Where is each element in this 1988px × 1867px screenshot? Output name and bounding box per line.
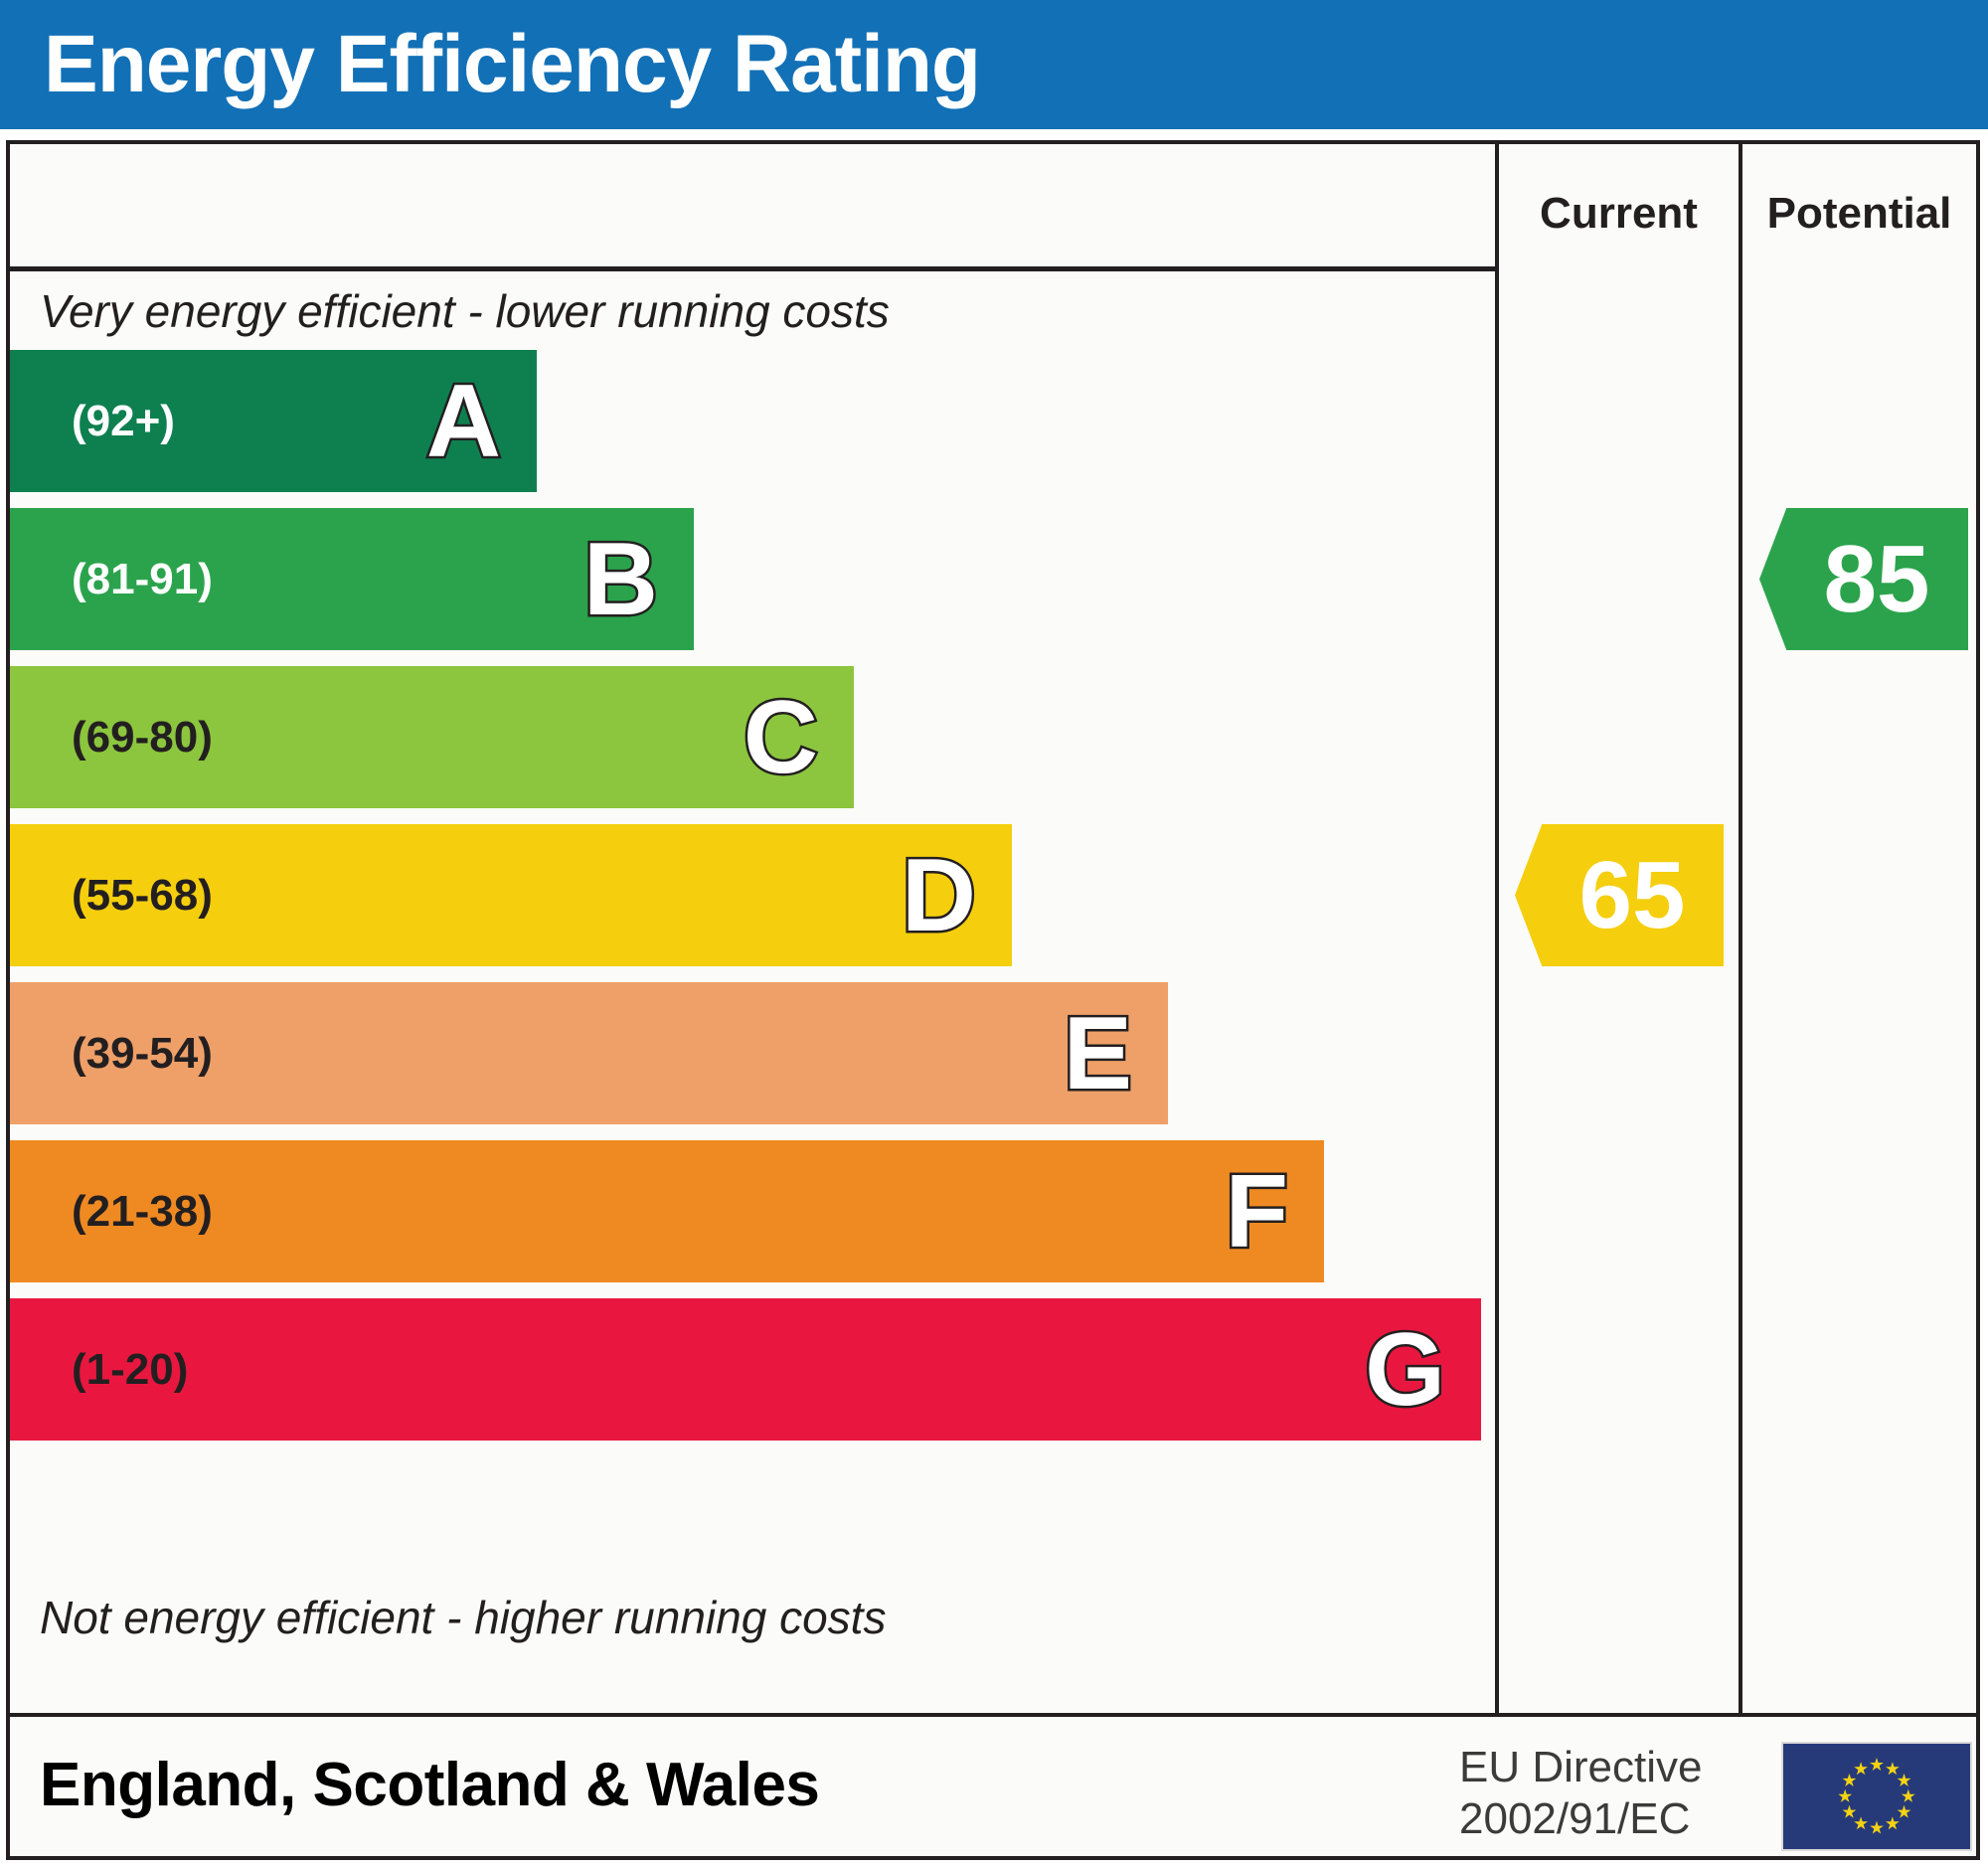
band-letter-e: E <box>1064 1002 1132 1105</box>
band-f: (21-38)F <box>10 1140 1324 1282</box>
caption-very-efficient: Very energy efficient - lower running co… <box>40 284 890 338</box>
band-range-a: (92+) <box>72 400 175 443</box>
band-e: (39-54)E <box>10 982 1168 1124</box>
footer-region-label: England, Scotland & Wales <box>40 1750 819 1820</box>
band-letter-c: C <box>744 686 818 789</box>
column-header-current: Current <box>1499 189 1739 239</box>
band-range-f: (21-38) <box>72 1190 213 1234</box>
rating-value-potential: 85 <box>1798 532 1930 627</box>
band-b: (81-91)B <box>10 508 694 650</box>
band-range-d: (55-68) <box>72 874 213 918</box>
eu-flag-stars-icon <box>1783 1744 1970 1849</box>
energy-efficiency-rating-chart: Energy Efficiency Rating Current Potenti… <box>0 0 1988 1867</box>
directive-line-2: 2002/91/EC <box>1459 1793 1703 1845</box>
band-letter-d: D <box>902 844 976 947</box>
footer-directive-label: EU Directive 2002/91/EC <box>1459 1742 1703 1845</box>
caption-not-efficient: Not energy efficient - higher running co… <box>40 1591 886 1644</box>
rating-marker-potential: 85 <box>1759 508 1968 650</box>
band-letter-g: G <box>1365 1318 1445 1422</box>
band-range-e: (39-54) <box>72 1032 213 1076</box>
eu-flag-icon <box>1781 1742 1972 1851</box>
rating-value-current: 65 <box>1554 848 1686 943</box>
band-g: (1-20)G <box>10 1298 1481 1441</box>
divider-header-row <box>10 266 1495 271</box>
title-bar: Energy Efficiency Rating <box>0 0 1988 129</box>
divider-potential-column <box>1739 144 1742 1717</box>
band-a: (92+)A <box>10 350 537 492</box>
band-range-c: (69-80) <box>72 716 213 760</box>
directive-line-1: EU Directive <box>1459 1742 1703 1793</box>
band-range-b: (81-91) <box>72 558 213 601</box>
band-letter-f: F <box>1225 1160 1288 1264</box>
band-letter-a: A <box>426 370 501 473</box>
band-c: (69-80)C <box>10 666 854 808</box>
band-d: (55-68)D <box>10 824 1012 966</box>
divider-current-column <box>1495 144 1499 1717</box>
column-header-potential: Potential <box>1742 189 1976 239</box>
band-range-g: (1-20) <box>72 1348 188 1392</box>
divider-footer-row <box>10 1713 1976 1717</box>
band-letter-b: B <box>583 528 658 631</box>
page-title: Energy Efficiency Rating <box>44 24 980 105</box>
rating-marker-current: 65 <box>1515 824 1724 966</box>
